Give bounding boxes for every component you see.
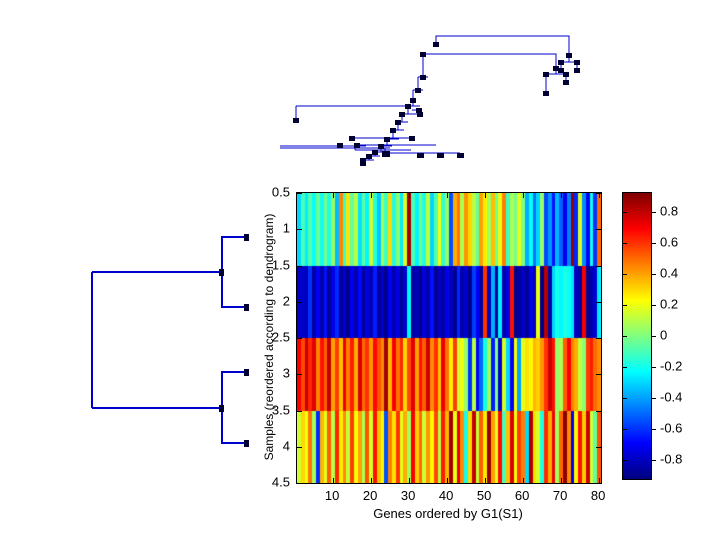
x-tick [409, 478, 410, 483]
x-tick-label: 20 [363, 489, 377, 502]
y-tick [297, 447, 302, 448]
y-tick [297, 483, 302, 484]
y-tick [297, 229, 302, 230]
y-tick [596, 338, 601, 339]
y-tick [297, 338, 302, 339]
y-tick [596, 483, 601, 484]
colorbar-tick [651, 305, 656, 306]
colorbar-tick [651, 398, 656, 399]
x-tick [447, 478, 448, 483]
y-tick [297, 302, 302, 303]
y-tick [596, 229, 601, 230]
x-tick [561, 193, 562, 198]
figure-canvas: 1020304050607080 0.511.522.533.544.5 Gen… [0, 0, 720, 540]
x-tick [523, 478, 524, 483]
y-axis-title-wrap: Samples (reordered according to dendrogr… [262, 192, 280, 482]
x-tick-label: 60 [515, 489, 529, 502]
x-tick-label: 70 [553, 489, 567, 502]
x-tick [447, 193, 448, 198]
colorbar-tick [651, 460, 656, 461]
gene-dendrogram [280, 22, 620, 167]
x-tick [523, 193, 524, 198]
colorbar-gradient [623, 193, 651, 479]
colorbar-tick [623, 212, 627, 213]
sample-dendrogram-markers [219, 234, 249, 447]
colorbar [622, 192, 652, 480]
y-tick [297, 266, 302, 267]
x-tick-label: 30 [401, 489, 415, 502]
colorbar-tick [623, 305, 627, 306]
y-tick [297, 374, 302, 375]
colorbar-tick [651, 367, 656, 368]
colorbar-tick [623, 460, 627, 461]
colorbar-tick [651, 336, 656, 337]
y-tick [297, 193, 302, 194]
x-axis-title: Genes ordered by G1(S1) [296, 506, 600, 521]
x-tick-label: 40 [439, 489, 453, 502]
sample-dendrogram-svg [86, 215, 252, 465]
y-tick [297, 411, 302, 412]
x-tick [485, 478, 486, 483]
colorbar-tick-label: 0.8 [660, 204, 678, 217]
y-tick [596, 411, 601, 412]
colorbar-tick [623, 274, 627, 275]
colorbar-tick-label: -0.8 [660, 453, 682, 466]
colorbar-tick-label: 0.6 [660, 235, 678, 248]
x-tick [333, 478, 334, 483]
heatmap-axes [296, 192, 602, 484]
x-tick-label: 10 [325, 489, 339, 502]
colorbar-tick [651, 243, 656, 244]
x-tick [561, 478, 562, 483]
y-tick [596, 193, 601, 194]
x-tick [371, 193, 372, 198]
y-tick [596, 374, 601, 375]
colorbar-tick [651, 429, 656, 430]
y-tick [596, 302, 601, 303]
colorbar-tick-label: 0.4 [660, 266, 678, 279]
colorbar-tick [623, 367, 627, 368]
colorbar-tick [651, 274, 656, 275]
gene-dendrogram-svg [280, 22, 620, 167]
y-tick [596, 266, 601, 267]
colorbar-tick [623, 398, 627, 399]
sample-dendrogram [86, 215, 252, 465]
x-tick [485, 193, 486, 198]
x-tick [409, 193, 410, 198]
colorbar-tick [623, 243, 627, 244]
y-axis-title: Samples (reordered according to dendrogr… [262, 192, 276, 482]
colorbar-tick [651, 212, 656, 213]
colorbar-tick [623, 429, 627, 430]
colorbar-tick-label: -0.6 [660, 422, 682, 435]
y-tick [596, 447, 601, 448]
colorbar-tick-label: 0.2 [660, 297, 678, 310]
x-tick [333, 193, 334, 198]
colorbar-tick [623, 336, 627, 337]
x-tick-label: 80 [591, 489, 605, 502]
colorbar-tick-label: -0.2 [660, 360, 682, 373]
colorbar-tick-label: 0 [660, 329, 667, 342]
x-tick [371, 478, 372, 483]
x-tick-label: 50 [477, 489, 491, 502]
heatmap-image [297, 193, 601, 483]
colorbar-tick-label: -0.4 [660, 391, 682, 404]
